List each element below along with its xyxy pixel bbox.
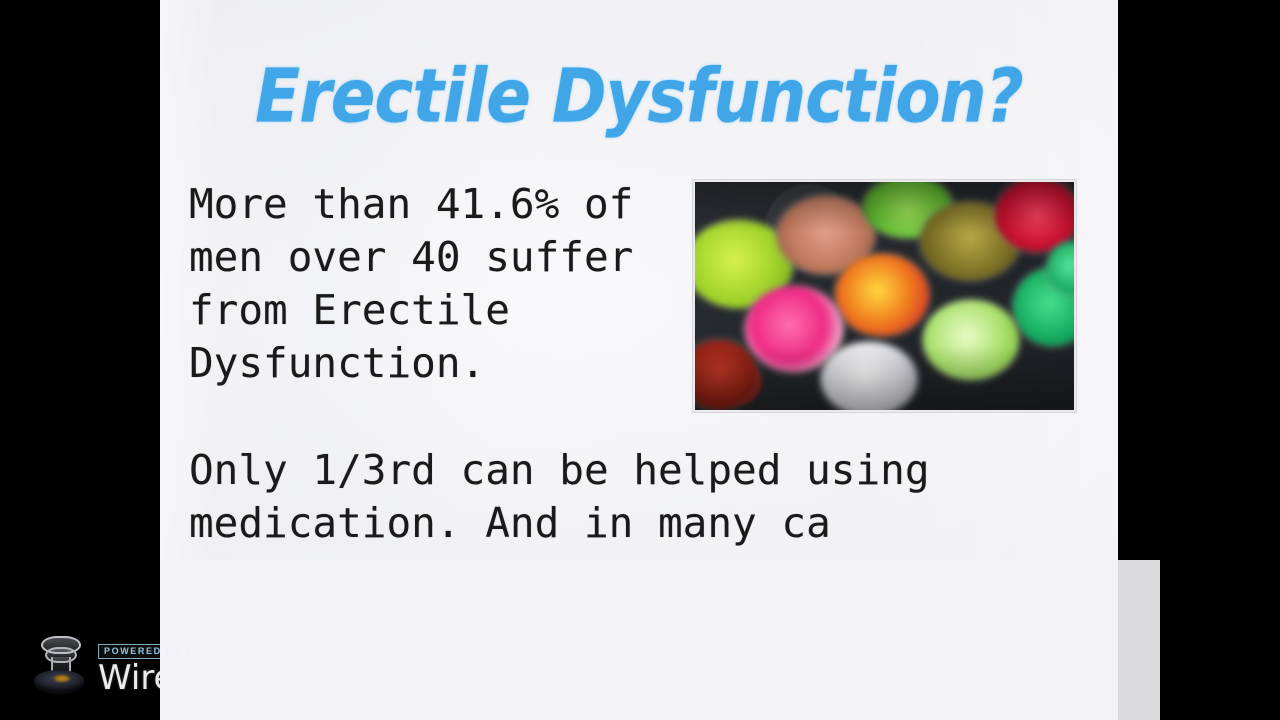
pill-bowl-mint [923, 300, 1019, 380]
lamp-base-glow [54, 675, 70, 682]
slide-paragraph-2: Only 1/3rd can be helped using medicatio… [189, 444, 1089, 550]
slide-canvas: Erectile Dysfunction? More than 41.6% of… [160, 0, 1118, 720]
wirecast-brand-label: Wirecast [98, 660, 245, 696]
powered-by-badge: POWERED BY [98, 644, 188, 659]
pills-photo [693, 180, 1076, 412]
pill-bowl-white [821, 342, 917, 412]
letterbox-bar-left [0, 0, 160, 720]
slide-paragraph-1: More than 41.6% of men over 40 suffer fr… [189, 178, 709, 390]
wirecast-watermark: POWERED BY Wirecast [28, 632, 245, 698]
letterbox-bar-right [1118, 0, 1280, 720]
wirecast-lamp-icon [28, 632, 90, 698]
watermark-text-group: POWERED BY Wirecast [98, 644, 245, 698]
pill-bowl-yellow [835, 254, 929, 336]
slide-title: Erectile Dysfunction? [189, 54, 1090, 139]
video-frame: Erectile Dysfunction? More than 41.6% of… [0, 0, 1280, 720]
pill-bowl-red [995, 180, 1076, 252]
lamp-base [34, 670, 84, 694]
